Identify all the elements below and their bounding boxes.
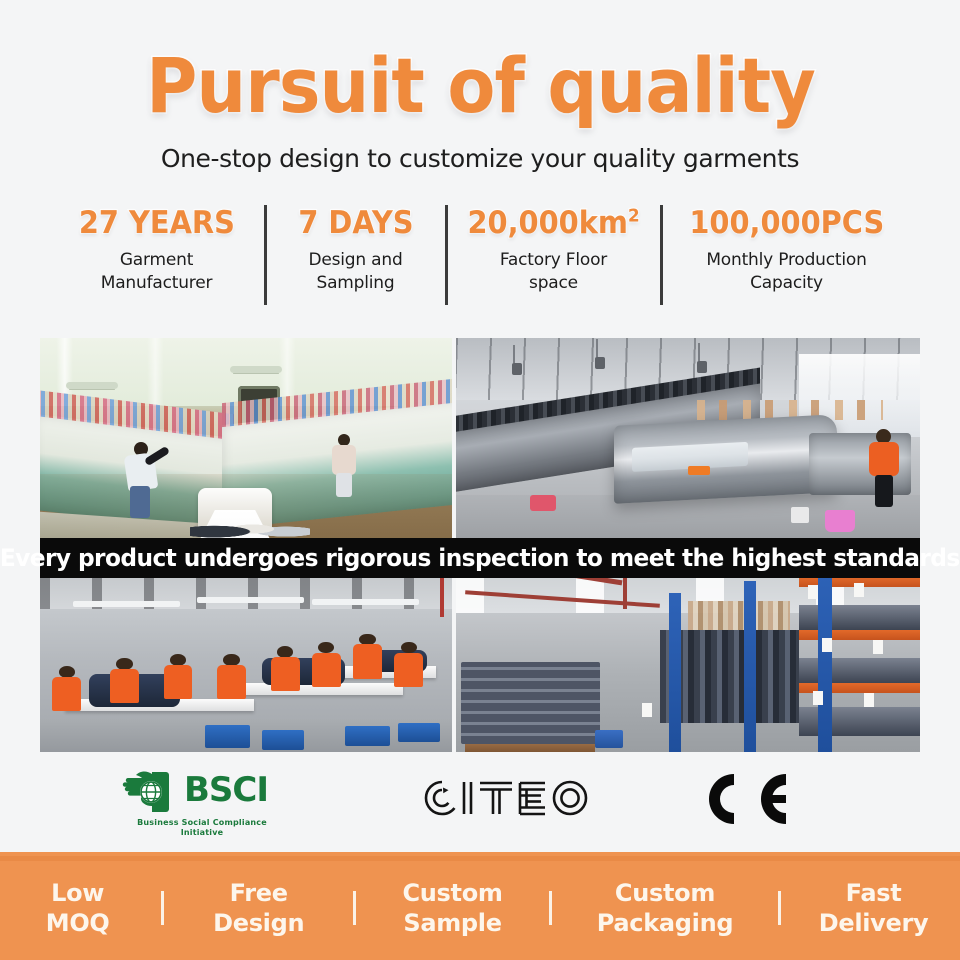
ceiling-fan-icon bbox=[66, 382, 118, 389]
bsci-logo: BSCI Business Social Compliance Initiati… bbox=[122, 768, 282, 838]
blue-rack-upright bbox=[744, 581, 756, 752]
service-footer-bar: Low MOQ Free Design Custom Sample Custom… bbox=[0, 852, 960, 960]
blue-storage-bin bbox=[595, 730, 623, 748]
shelf-label-tag bbox=[864, 693, 874, 707]
stat-years: 27 YEARS Garment Manufacturer bbox=[50, 203, 264, 295]
blue-rack-upright bbox=[669, 593, 680, 752]
shelf-label-tag bbox=[808, 585, 818, 599]
warehouse-image bbox=[456, 548, 920, 752]
worker-figure bbox=[126, 442, 156, 516]
stat-capacity-value: 100,000PCS bbox=[689, 203, 884, 243]
stat-days-label-line2: Sampling bbox=[317, 273, 395, 293]
footer-item-custom-sample-line2: Sample bbox=[403, 909, 501, 937]
work-lamp-icon bbox=[312, 599, 419, 605]
blue-storage-bin bbox=[345, 726, 390, 746]
stat-floor-space: 20,000km2 Factory Floor space bbox=[448, 203, 660, 295]
stat-years-label: Garment Manufacturer bbox=[101, 249, 213, 295]
plastic-bucket bbox=[791, 507, 809, 523]
worker-figure bbox=[332, 434, 356, 496]
operator-body bbox=[52, 677, 81, 711]
pendant-lamp-icon bbox=[595, 357, 605, 369]
ce-mark-logo bbox=[700, 770, 792, 828]
plastic-stool bbox=[530, 495, 556, 511]
shelf-label-tag bbox=[854, 583, 864, 597]
citeo-wordmark-icon bbox=[412, 770, 598, 826]
worker-body bbox=[869, 442, 899, 476]
blue-storage-bin bbox=[398, 723, 439, 741]
stat-capacity-label-line2: Capacity bbox=[750, 273, 823, 293]
stat-years-value: 27 YEARS bbox=[78, 203, 234, 243]
inspection-banner: Every product undergoes rigorous inspect… bbox=[40, 538, 920, 578]
photo-knitting-machine-hall bbox=[456, 338, 920, 544]
work-lamp-icon bbox=[197, 597, 304, 603]
operator-body bbox=[164, 665, 193, 699]
knitting-hall-image bbox=[456, 338, 920, 544]
shelf-label-tag bbox=[813, 691, 823, 705]
operator-body bbox=[271, 657, 300, 691]
sewing-line-image bbox=[40, 548, 452, 752]
blue-storage-bin bbox=[262, 730, 303, 750]
stat-years-label-line1: Garment bbox=[120, 250, 193, 270]
page-subtitle: One-stop design to customize your qualit… bbox=[0, 143, 960, 175]
footer-item-custom-packaging: Custom Packaging bbox=[558, 878, 772, 938]
operator-head bbox=[170, 654, 186, 666]
blue-rack-upright bbox=[818, 564, 832, 752]
headline-container: Pursuit of quality bbox=[0, 44, 960, 128]
promo-poster: Pursuit of quality One-stop design to cu… bbox=[0, 0, 960, 960]
footer-divider-4 bbox=[778, 891, 781, 925]
photo-finished-goods-warehouse bbox=[456, 548, 920, 752]
operator-head bbox=[277, 646, 293, 658]
bsci-wordmark: BSCI bbox=[184, 770, 268, 810]
footer-divider-2 bbox=[353, 891, 356, 925]
footer-item-fast-delivery-line1: Fast bbox=[846, 879, 902, 907]
stats-row: 27 YEARS Garment Manufacturer 7 DAYS Des… bbox=[28, 203, 932, 307]
worker-legs bbox=[130, 486, 150, 518]
stat-days-value: 7 DAYS bbox=[298, 203, 413, 243]
ceiling-fan-icon bbox=[230, 366, 282, 373]
sewing-operator bbox=[271, 646, 300, 691]
photo-sewing-production-line bbox=[40, 548, 452, 752]
stat-years-label-line2: Manufacturer bbox=[101, 273, 213, 293]
stat-floor-space-superscript: 2 bbox=[628, 206, 640, 227]
worker-figure bbox=[867, 429, 901, 507]
bsci-hand-globe-icon bbox=[122, 770, 180, 814]
stat-floor-space-label: Factory Floor space bbox=[500, 249, 607, 295]
sewing-operator bbox=[164, 654, 193, 699]
operator-head bbox=[318, 642, 334, 654]
operator-body bbox=[394, 653, 423, 687]
footer-item-fast-delivery-line2: Delivery bbox=[819, 909, 929, 937]
sewing-operator bbox=[394, 642, 423, 687]
footer-item-fast-delivery: Fast Delivery bbox=[787, 878, 960, 938]
operator-body bbox=[353, 644, 382, 678]
pendant-lamp-icon bbox=[697, 361, 707, 373]
footer-item-low-moq: Low MOQ bbox=[0, 878, 155, 938]
footer-item-free-design: Free Design bbox=[170, 878, 347, 938]
bsci-hand-globe-svg bbox=[122, 770, 180, 814]
footer-item-free-design-line2: Design bbox=[213, 909, 304, 937]
pendant-lamp-icon bbox=[512, 363, 522, 375]
operator-head bbox=[401, 642, 417, 654]
footer-item-custom-packaging-line1: Custom bbox=[615, 879, 715, 907]
citeo-logo bbox=[412, 770, 598, 826]
sewing-operator bbox=[52, 666, 81, 711]
sewing-operator bbox=[110, 658, 139, 703]
shelf-label-tag bbox=[873, 640, 883, 654]
embroidery-workshop-image bbox=[40, 338, 452, 544]
stat-floor-space-label-line2: space bbox=[529, 273, 578, 293]
footer-item-low-moq-line2: MOQ bbox=[46, 909, 110, 937]
hanging-garments bbox=[660, 630, 799, 724]
footer-item-custom-sample-line1: Custom bbox=[402, 879, 502, 907]
page-title: Pursuit of quality bbox=[146, 44, 815, 128]
plastic-bucket bbox=[825, 510, 855, 532]
operator-body bbox=[110, 669, 139, 703]
sewing-operator bbox=[217, 654, 246, 699]
ce-mark-icon bbox=[700, 770, 792, 828]
footer-item-custom-packaging-line2: Packaging bbox=[597, 909, 734, 937]
certification-logo-row: BSCI Business Social Compliance Initiati… bbox=[0, 762, 960, 842]
worker-body bbox=[332, 445, 356, 475]
stat-days-label: Design and Sampling bbox=[308, 249, 402, 295]
bsci-tagline: Business Social Compliance Initiative bbox=[122, 818, 282, 838]
stat-capacity-label-line1: Monthly Production bbox=[706, 250, 866, 270]
stat-days-label-line1: Design and bbox=[308, 250, 402, 270]
footer-divider-3 bbox=[549, 891, 552, 925]
stat-floor-space-number: 20,000km bbox=[467, 205, 627, 241]
shelf-label-tag bbox=[822, 638, 832, 652]
footer-item-free-design-line1: Free bbox=[230, 879, 288, 907]
stat-floor-space-value: 20,000km2 bbox=[467, 203, 639, 243]
stat-days: 7 DAYS Design and Sampling bbox=[267, 203, 445, 295]
worker-legs bbox=[336, 473, 352, 497]
stat-capacity: 100,000PCS Monthly Production Capacity bbox=[663, 203, 911, 295]
packed-garment-stack bbox=[461, 662, 600, 744]
stat-capacity-label: Monthly Production Capacity bbox=[706, 249, 866, 295]
shelf-label-tag bbox=[642, 703, 652, 717]
sewing-operator bbox=[353, 634, 382, 679]
photo-embroidery-workshop bbox=[40, 338, 452, 544]
work-lamp-icon bbox=[73, 601, 180, 607]
stat-floor-space-label-line1: Factory Floor bbox=[500, 250, 607, 270]
operator-head bbox=[223, 654, 239, 666]
footer-item-low-moq-line1: Low bbox=[51, 879, 104, 907]
sewing-operator bbox=[312, 642, 341, 687]
footer-divider-1 bbox=[161, 891, 164, 925]
flat-knitting-machine bbox=[614, 415, 837, 505]
blue-storage-bin bbox=[205, 725, 250, 747]
worker-legs bbox=[875, 475, 893, 507]
operator-body bbox=[312, 653, 341, 687]
machine-control-panel bbox=[688, 466, 710, 475]
footer-item-custom-sample: Custom Sample bbox=[362, 878, 543, 938]
operator-body bbox=[217, 665, 246, 699]
inspection-banner-text: Every product undergoes rigorous inspect… bbox=[0, 544, 960, 572]
